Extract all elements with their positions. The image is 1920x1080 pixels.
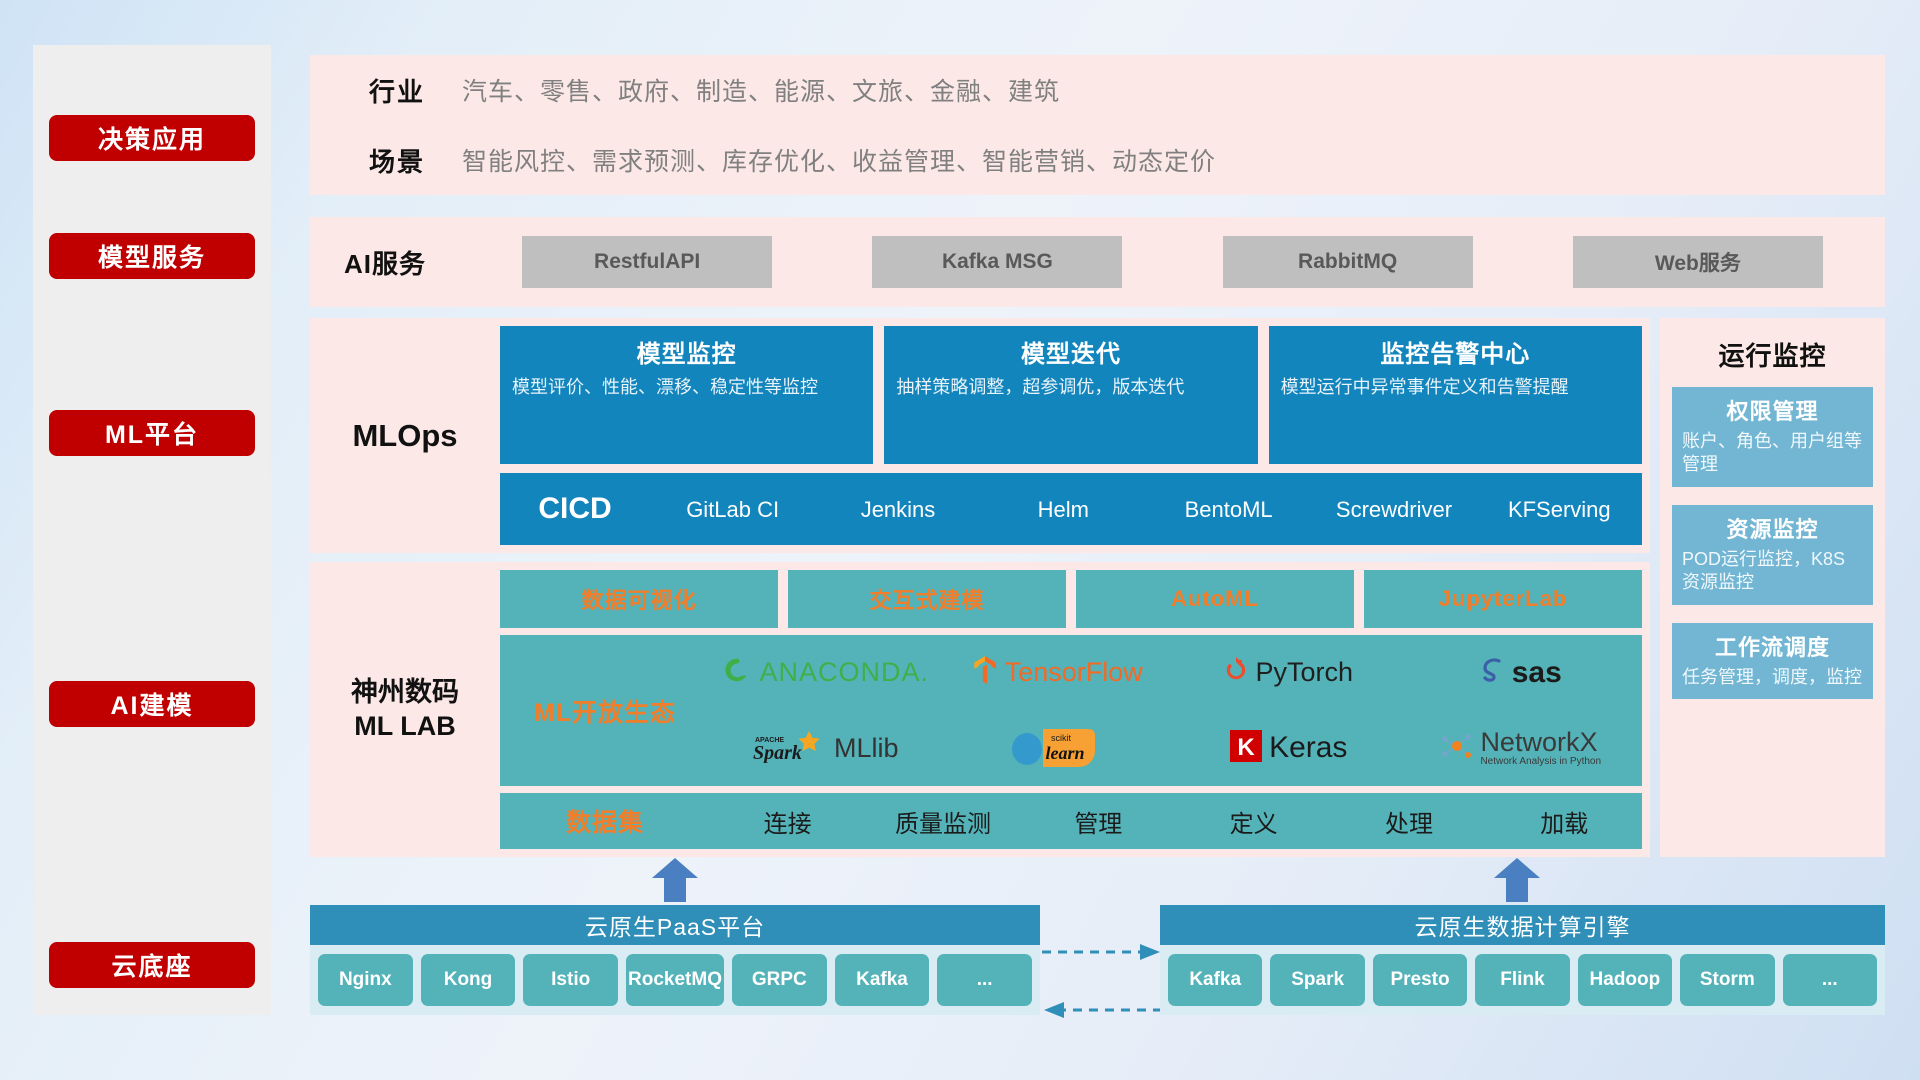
svg-text:Spark: Spark: [753, 742, 802, 763]
card-desc: POD运行监控，K8S资源监控: [1682, 548, 1863, 595]
rail-chip-ml-platform[interactable]: ML平台: [49, 410, 255, 456]
mlops-content: 模型监控 模型评价、性能、漂移、稳定性等监控 模型迭代 抽样策略调整，超参调优，…: [500, 318, 1650, 553]
card-title: 模型监控: [512, 334, 861, 369]
scenario-label: 场景: [332, 142, 462, 179]
cicd-item-screwdriver[interactable]: Screwdriver: [1311, 496, 1476, 521]
tensorflow-logo[interactable]: TensorFlow: [972, 655, 1143, 690]
cloud-chip-storm[interactable]: Storm: [1680, 954, 1774, 1006]
cloud-chip-nginx[interactable]: Nginx: [318, 954, 413, 1006]
networkx-icon: [1439, 730, 1473, 767]
rail-chip-cloud-base[interactable]: 云底座: [49, 942, 255, 988]
scenario-value: 智能风控、需求预测、库存优化、收益管理、智能营销、动态定价: [462, 142, 1216, 178]
tool-automl[interactable]: AutoML: [1076, 570, 1354, 628]
runtime-monitor-title: 运行监控: [1672, 336, 1873, 373]
cloud-chip-kafka[interactable]: Kafka: [835, 954, 930, 1006]
ai-service-item-restfulapi[interactable]: RestfulAPI: [522, 236, 772, 288]
monitor-card-workflow[interactable]: 工作流调度 任务管理，调度，监控: [1672, 623, 1873, 699]
monitor-card-permission[interactable]: 权限管理 账户、角色、用户组等管理: [1672, 387, 1873, 487]
networkx-logo-text: NetworkX: [1480, 729, 1601, 756]
networkx-logo[interactable]: NetworkX Network Analysis in Python: [1439, 729, 1601, 767]
modeling-content: 数据可视化 交互式建模 AutoML JupyterLab ML开放生态 ANA…: [500, 562, 1650, 857]
card-desc: 任务管理，调度，监控: [1682, 666, 1863, 689]
cicd-item-bentoml[interactable]: BentoML: [1146, 496, 1311, 521]
cloud-chip-more[interactable]: ...: [937, 954, 1032, 1006]
cloud-chip-rocketmq[interactable]: RocketMQ: [626, 954, 724, 1006]
ml-open-ecosystem-row: ML开放生态 ANACONDA. TensorFlow: [500, 635, 1642, 786]
cloud-chip-presto[interactable]: Presto: [1373, 954, 1467, 1006]
cloud-paas-block: 云原生PaaS平台 Nginx Kong Istio RocketMQ GRPC…: [310, 905, 1040, 1015]
anaconda-logo[interactable]: ANACONDA.: [722, 655, 929, 690]
keras-logo[interactable]: K Keras: [1230, 730, 1347, 767]
anaconda-icon: [722, 655, 752, 690]
cloud-chip-kafka-data[interactable]: Kafka: [1168, 954, 1262, 1006]
tool-jupyterlab[interactable]: JupyterLab: [1364, 570, 1642, 628]
up-arrow-data-engine-icon: [1494, 858, 1540, 902]
card-title: 资源监控: [1682, 512, 1863, 544]
dataset-label: 数据集: [500, 803, 710, 839]
ai-modeling-panel: 神州数码 ML LAB 数据可视化 交互式建模 AutoML JupyterLa…: [310, 562, 1650, 857]
industry-value: 汽车、零售、政府、制造、能源、文旅、金融、建筑: [462, 72, 1060, 108]
cloud-data-engine-block: 云原生数据计算引擎 Kafka Spark Presto Flink Hadoo…: [1160, 905, 1885, 1015]
dataset-item-load[interactable]: 加载: [1487, 804, 1642, 839]
cloud-chip-istio[interactable]: Istio: [523, 954, 618, 1006]
ml-lab-label-line2: ML LAB: [310, 710, 500, 744]
cicd-item-kfserving[interactable]: KFServing: [1477, 496, 1642, 521]
sas-icon: [1479, 656, 1505, 689]
bidirectional-dashed-links: [1042, 938, 1162, 1033]
cicd-item-helm[interactable]: Helm: [981, 496, 1146, 521]
ml-lab-label: 神州数码 ML LAB: [310, 676, 500, 744]
ml-lab-label-line1: 神州数码: [310, 676, 500, 710]
modeling-tool-row: 数据可视化 交互式建模 AutoML JupyterLab: [500, 570, 1642, 628]
cloud-chip-spark[interactable]: Spark: [1270, 954, 1364, 1006]
tool-interactive-modeling[interactable]: 交互式建模: [788, 570, 1066, 628]
mlops-panel: MLOps 模型监控 模型评价、性能、漂移、稳定性等监控 模型迭代 抽样策略调整…: [310, 318, 1650, 553]
mlops-card-alert-center[interactable]: 监控告警中心 模型运行中异常事件定义和告警提醒: [1269, 326, 1642, 464]
up-arrow-paas-icon: [652, 858, 698, 902]
cicd-item-jenkins[interactable]: Jenkins: [815, 496, 980, 521]
scikit-learn-logo[interactable]: scikit learn: [1009, 723, 1105, 774]
mllib-logo-text: MLlib: [834, 733, 899, 764]
dataset-item-connect[interactable]: 连接: [710, 804, 865, 839]
svg-text:learn: learn: [1046, 743, 1085, 763]
tensorflow-icon: [972, 655, 998, 690]
dataset-row: 数据集 连接 质量监测 管理 定义 处理 加载: [500, 793, 1642, 849]
cloud-chip-grpc[interactable]: GRPC: [732, 954, 827, 1006]
ml-open-ecosystem-label: ML开放生态: [500, 693, 710, 729]
cloud-data-chip-list: Kafka Spark Presto Flink Hadoop Storm ..…: [1160, 945, 1885, 1015]
decision-application-panel: 行业 汽车、零售、政府、制造、能源、文旅、金融、建筑 场景 智能风控、需求预测、…: [310, 55, 1885, 195]
spark-icon: APACHE Spark: [753, 729, 827, 768]
ai-service-item-web[interactable]: Web服务: [1573, 236, 1823, 288]
cicd-item-list: GitLab CI Jenkins Helm BentoML Screwdriv…: [650, 496, 1642, 521]
dataset-item-define[interactable]: 定义: [1176, 804, 1331, 839]
cloud-chip-more-data[interactable]: ...: [1783, 954, 1877, 1006]
ai-service-label: AI服务: [310, 244, 460, 281]
cicd-bar: CICD GitLab CI Jenkins Helm BentoML Scre…: [500, 473, 1642, 545]
tensorflow-logo-text: TensorFlow: [1005, 657, 1143, 688]
ai-service-item-kafka-msg[interactable]: Kafka MSG: [872, 236, 1122, 288]
rail-chip-ai-modeling[interactable]: AI建模: [49, 681, 255, 727]
dataset-item-list: 连接 质量监测 管理 定义 处理 加载: [710, 804, 1642, 839]
ecosystem-logo-grid: ANACONDA. TensorFlow PyTorch: [710, 635, 1642, 786]
keras-icon: K: [1230, 730, 1262, 767]
mlops-card-model-monitoring[interactable]: 模型监控 模型评价、性能、漂移、稳定性等监控: [500, 326, 873, 464]
dataset-item-quality[interactable]: 质量监测: [865, 804, 1020, 839]
mlops-label: MLOps: [310, 418, 500, 454]
keras-logo-text: Keras: [1269, 731, 1347, 765]
ai-service-items: RestfulAPI Kafka MSG RabbitMQ Web服务: [460, 236, 1885, 288]
cloud-paas-chip-list: Nginx Kong Istio RocketMQ GRPC Kafka ...: [310, 945, 1040, 1015]
scikit-learn-icon: scikit learn: [1009, 723, 1105, 774]
card-title: 监控告警中心: [1281, 334, 1630, 369]
card-title: 工作流调度: [1682, 630, 1863, 662]
dataset-item-process[interactable]: 处理: [1331, 804, 1486, 839]
card-desc: 账户、角色、用户组等管理: [1682, 430, 1863, 477]
mlops-card-model-iteration[interactable]: 模型迭代 抽样策略调整，超参调优，版本迭代: [884, 326, 1257, 464]
left-rail: 决策应用 模型服务 ML平台 AI建模 云底座: [33, 45, 271, 1015]
sas-logo[interactable]: sas: [1479, 656, 1562, 690]
networkx-text-wrap: NetworkX Network Analysis in Python: [1480, 729, 1601, 767]
svg-text:K: K: [1237, 734, 1255, 761]
pytorch-logo[interactable]: PyTorch: [1224, 655, 1353, 690]
runtime-monitor-panel: 运行监控 权限管理 账户、角色、用户组等管理 资源监控 POD运行监控，K8S资…: [1660, 318, 1885, 857]
cicd-title: CICD: [500, 492, 650, 526]
spark-mllib-logo[interactable]: APACHE Spark MLlib: [753, 729, 899, 768]
svg-text:scikit: scikit: [1051, 733, 1071, 743]
ai-service-item-rabbitmq[interactable]: RabbitMQ: [1223, 236, 1473, 288]
cloud-chip-kong[interactable]: Kong: [421, 954, 516, 1006]
cloud-chip-flink[interactable]: Flink: [1475, 954, 1569, 1006]
cicd-item-gitlab-ci[interactable]: GitLab CI: [650, 496, 815, 521]
ai-service-panel: AI服务 RestfulAPI Kafka MSG RabbitMQ Web服务: [310, 217, 1885, 307]
tool-data-visualization[interactable]: 数据可视化: [500, 570, 778, 628]
cloud-paas-title: 云原生PaaS平台: [310, 905, 1040, 945]
card-title: 权限管理: [1682, 394, 1863, 426]
rail-chip-model-service[interactable]: 模型服务: [49, 233, 255, 279]
anaconda-logo-text: ANACONDA.: [759, 657, 929, 688]
mlops-card-list: 模型监控 模型评价、性能、漂移、稳定性等监控 模型迭代 抽样策略调整，超参调优，…: [500, 326, 1642, 464]
pytorch-logo-text: PyTorch: [1255, 657, 1353, 688]
dataset-item-manage[interactable]: 管理: [1021, 804, 1176, 839]
industry-row: 行业 汽车、零售、政府、制造、能源、文旅、金融、建筑: [310, 55, 1885, 125]
card-title: 模型迭代: [896, 334, 1245, 369]
pytorch-icon: [1224, 655, 1248, 690]
card-desc: 模型运行中异常事件定义和告警提醒: [1281, 375, 1630, 399]
cloud-chip-hadoop[interactable]: Hadoop: [1578, 954, 1672, 1006]
card-desc: 模型评价、性能、漂移、稳定性等监控: [512, 375, 861, 399]
cloud-data-engine-title: 云原生数据计算引擎: [1160, 905, 1885, 945]
sas-logo-text: sas: [1512, 656, 1562, 690]
card-desc: 抽样策略调整，超参调优，版本迭代: [896, 375, 1245, 399]
industry-label: 行业: [332, 72, 462, 109]
rail-chip-decision[interactable]: 决策应用: [49, 115, 255, 161]
scenario-row: 场景 智能风控、需求预测、库存优化、收益管理、智能营销、动态定价: [310, 125, 1885, 195]
networkx-logo-subtext: Network Analysis in Python: [1480, 756, 1601, 767]
monitor-card-resource[interactable]: 资源监控 POD运行监控，K8S资源监控: [1672, 505, 1873, 605]
